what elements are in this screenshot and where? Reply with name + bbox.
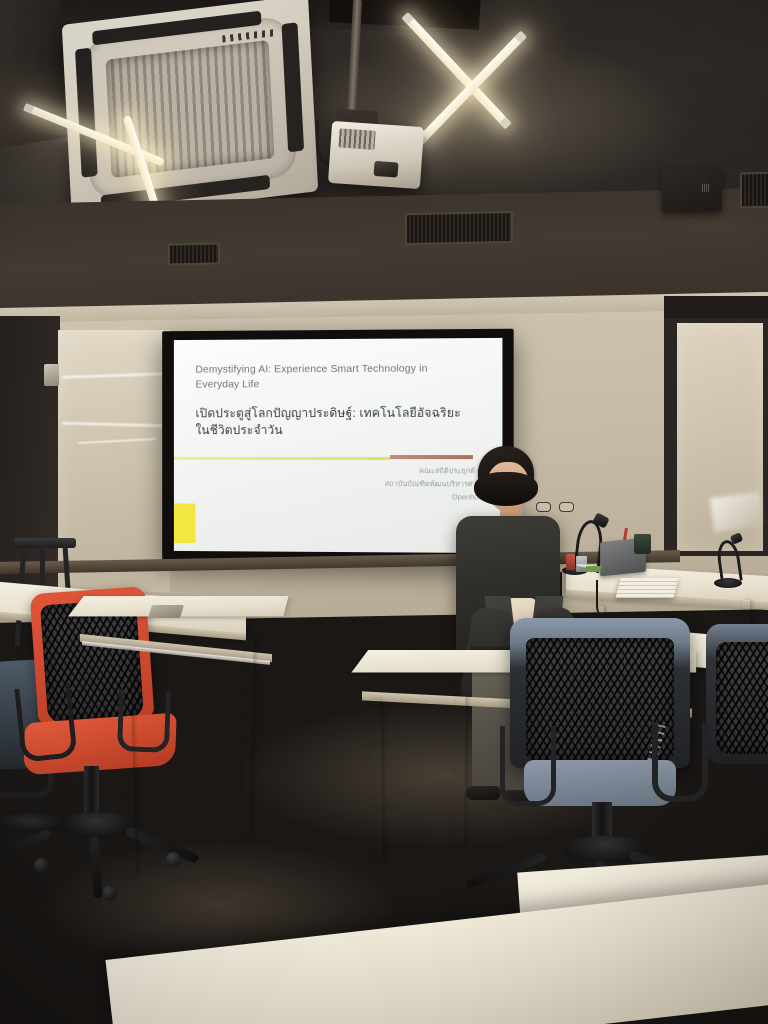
ventilation-grille-icon — [168, 242, 220, 265]
fluorescent-tube-icon — [401, 12, 511, 129]
table-leg — [454, 694, 466, 844]
wall-fixture — [44, 364, 59, 386]
projector-icon — [328, 121, 424, 189]
wall-speaker-icon — [662, 167, 722, 212]
microphone-base — [714, 578, 742, 588]
eyeglasses-icon — [536, 502, 574, 512]
slide-title-thai: เปิดประตูสู่โลกปัญญาประดิษฐ์: เทคโนโลยีอ… — [195, 405, 462, 439]
ventilation-grille-icon — [740, 172, 768, 209]
paper-stack — [616, 578, 679, 598]
desk-cable — [596, 580, 618, 620]
slide-yellow-accent — [174, 503, 196, 543]
glass-reflection — [710, 492, 764, 533]
ceiling-cassette-ac-icon — [62, 0, 318, 221]
slide-title-english: Demystifying AI: Experience Smart Techno… — [195, 362, 462, 393]
table-cable-port — [148, 605, 184, 618]
classroom-scene: Demystifying AI: Experience Smart Techno… — [0, 0, 768, 1024]
orange-mesh-task-chair — [10, 590, 195, 890]
presenter-hair-back — [474, 472, 538, 506]
pen-cup-icon — [634, 534, 651, 554]
slide-accent-rule — [174, 457, 473, 460]
presenter-shoe — [466, 786, 500, 800]
ventilation-grille-icon — [405, 211, 513, 245]
